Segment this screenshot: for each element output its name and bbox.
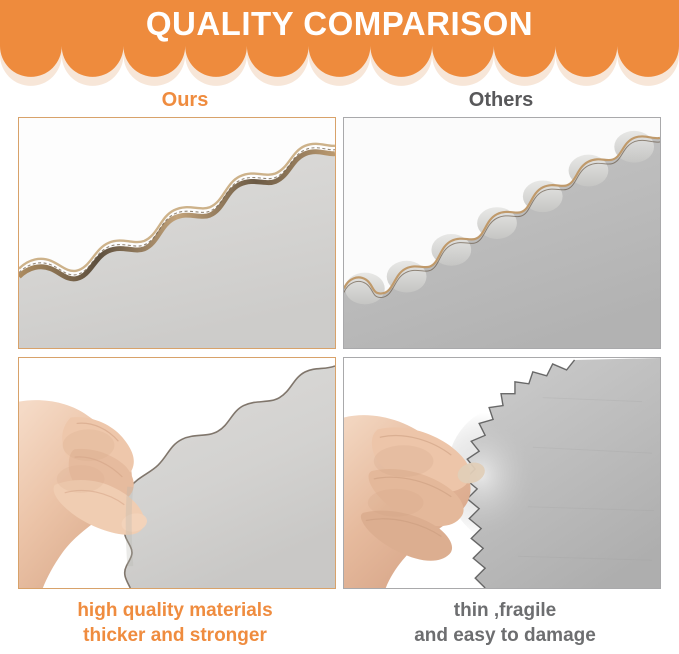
panel-ours-edge (18, 117, 336, 349)
caption-others-line1: thin ,fragile (454, 600, 556, 621)
caption-others-line2: and easy to damage (340, 623, 670, 648)
column-heading-ours: Ours (25, 88, 345, 112)
caption-ours: high quality materials thicker and stron… (10, 598, 340, 648)
photo-ours-hand-holding-rigid-board (19, 358, 335, 588)
photo-others-thin-scalloped-edge (344, 118, 660, 348)
caption-others: thin ,fragile and easy to damage (340, 598, 670, 648)
photo-others-hand-holding-floppy-board (344, 358, 660, 588)
caption-ours-line1: high quality materials (77, 600, 272, 621)
page-title: QUALITY COMPARISON (0, 4, 679, 44)
panel-others-edge (343, 117, 661, 349)
panel-others-hand (343, 357, 661, 589)
panel-ours-hand (18, 357, 336, 589)
caption-ours-line2: thicker and stronger (10, 623, 340, 648)
header-banner: QUALITY COMPARISON (0, 0, 679, 86)
column-heading-others: Others (341, 88, 661, 112)
photo-ours-thick-scalloped-edge (19, 118, 335, 348)
contact-shadow (129, 487, 130, 566)
